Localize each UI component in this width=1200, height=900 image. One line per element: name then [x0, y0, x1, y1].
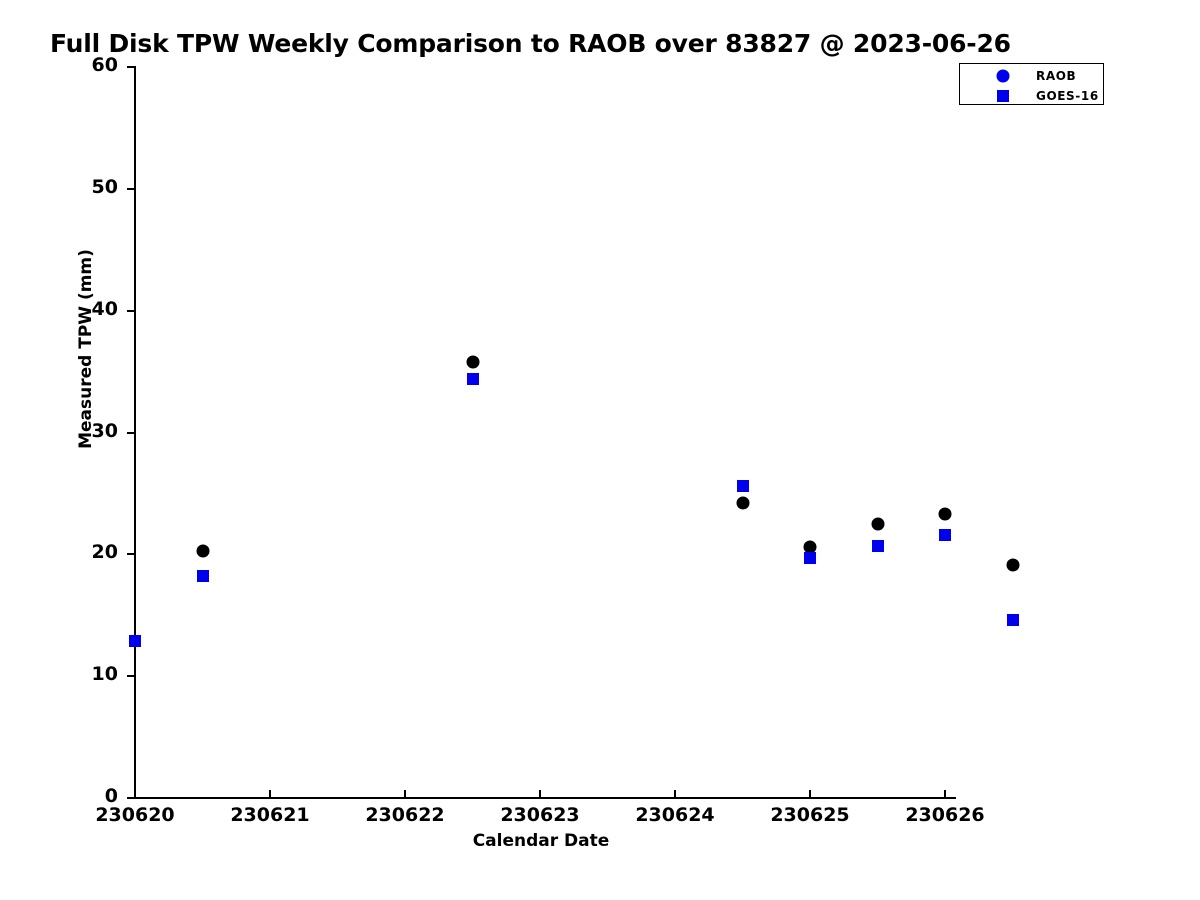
y-tick-mark — [127, 310, 135, 312]
data-point-raob — [939, 508, 952, 521]
y-tick-mark — [127, 66, 135, 68]
y-tick-mark — [127, 432, 135, 434]
x-tick-label: 230626 — [905, 804, 984, 826]
y-axis-label: Measured TPW (mm) — [76, 199, 96, 499]
data-point-raob — [736, 497, 749, 510]
data-point-goes-16 — [197, 570, 209, 582]
x-tick-label: 230620 — [95, 804, 174, 826]
legend-label: GOES-16 — [1036, 89, 1099, 103]
data-point-raob — [196, 544, 209, 557]
x-tick-label: 230623 — [500, 804, 579, 826]
data-point-raob — [466, 355, 479, 368]
chart-legend: RAOBGOES-16 — [959, 63, 1104, 105]
legend-item-goes-16[interactable]: GOES-16 — [960, 85, 1103, 106]
y-tick-label: 20 — [92, 541, 118, 563]
plot-area — [135, 67, 955, 798]
y-tick-label: 50 — [92, 176, 118, 198]
x-tick-label: 230624 — [635, 804, 714, 826]
data-point-raob — [871, 517, 884, 530]
legend-item-raob[interactable]: RAOB — [960, 65, 1103, 86]
x-axis-label: Calendar Date — [0, 831, 1082, 851]
legend-square-icon — [997, 90, 1009, 102]
y-tick-label: 60 — [92, 54, 118, 76]
data-point-goes-16 — [872, 540, 884, 552]
x-tick-label: 230622 — [365, 804, 444, 826]
data-point-goes-16 — [804, 552, 816, 564]
y-tick-label: 10 — [92, 663, 118, 685]
chart-title: Full Disk TPW Weekly Comparison to RAOB … — [50, 29, 1011, 58]
x-tick-label: 230621 — [230, 804, 309, 826]
data-point-goes-16 — [939, 529, 951, 541]
data-point-goes-16 — [737, 480, 749, 492]
x-tick-label: 230625 — [770, 804, 849, 826]
y-tick-mark — [127, 553, 135, 555]
y-tick-mark — [127, 675, 135, 677]
legend-label: RAOB — [1036, 69, 1076, 83]
data-point-goes-16 — [1007, 614, 1019, 626]
data-point-goes-16 — [129, 635, 141, 647]
data-point-raob — [1006, 559, 1019, 572]
chart-figure: Full Disk TPW Weekly Comparison to RAOB … — [0, 0, 1200, 900]
y-tick-mark — [127, 188, 135, 190]
data-point-goes-16 — [467, 373, 479, 385]
legend-circle-icon — [997, 69, 1010, 82]
